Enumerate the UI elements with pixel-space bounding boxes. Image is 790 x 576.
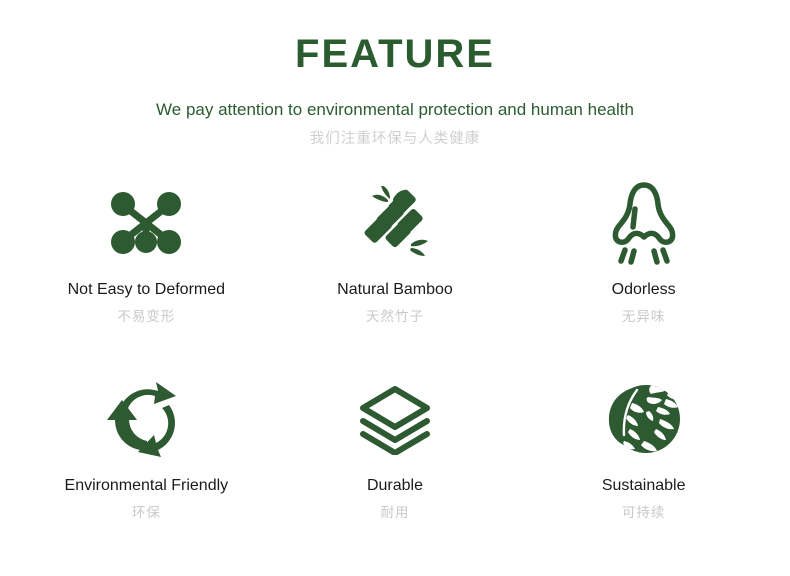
feature-item-not-easy-to-deformed: Not Easy to Deformed 不易变形 — [22, 175, 271, 371]
feature-label-english: Natural Bamboo — [337, 280, 453, 299]
feature-item-natural-bamboo: Natural Bamboo 天然竹子 — [271, 175, 520, 371]
feature-label-english: Not Easy to Deformed — [68, 280, 225, 299]
subtitle-english: We pay attention to environmental protec… — [0, 100, 790, 120]
nose-icon — [608, 175, 680, 271]
feature-label-chinese: 环保 — [132, 505, 161, 521]
feature-label-chinese: 可持续 — [622, 505, 666, 521]
feature-grid: Not Easy to Deformed 不易变形 — [0, 175, 790, 567]
feature-item-environmental-friendly: Environmental Friendly 环保 — [22, 371, 271, 567]
feature-label-english: Sustainable — [602, 476, 686, 495]
section-header: FEATURE We pay attention to environmenta… — [0, 0, 790, 149]
feature-label-english: Environmental Friendly — [65, 476, 229, 495]
feature-label-chinese: 不易变形 — [117, 309, 175, 325]
feature-section: FEATURE We pay attention to environmenta… — [0, 0, 790, 576]
feature-label-english: Odorless — [612, 280, 676, 299]
feature-item-odorless: Odorless 无异味 — [519, 175, 768, 371]
bamboo-icon — [357, 175, 433, 271]
feature-label-chinese: 耐用 — [380, 505, 409, 521]
feature-label-english: Durable — [367, 476, 423, 495]
molecule-nodes-icon — [108, 175, 184, 271]
page-title: FEATURE — [0, 34, 790, 74]
feature-label-chinese: 无异味 — [622, 309, 666, 325]
layers-stack-icon — [356, 371, 434, 467]
feature-label-chinese: 天然竹子 — [366, 309, 424, 325]
feature-item-sustainable: Sustainable 可持续 — [519, 371, 768, 567]
subtitle-chinese: 我们注重环保与人类健康 — [0, 131, 790, 148]
recycle-icon — [106, 371, 186, 467]
globe-leaf-icon — [604, 371, 684, 467]
feature-item-durable: Durable 耐用 — [271, 371, 520, 567]
